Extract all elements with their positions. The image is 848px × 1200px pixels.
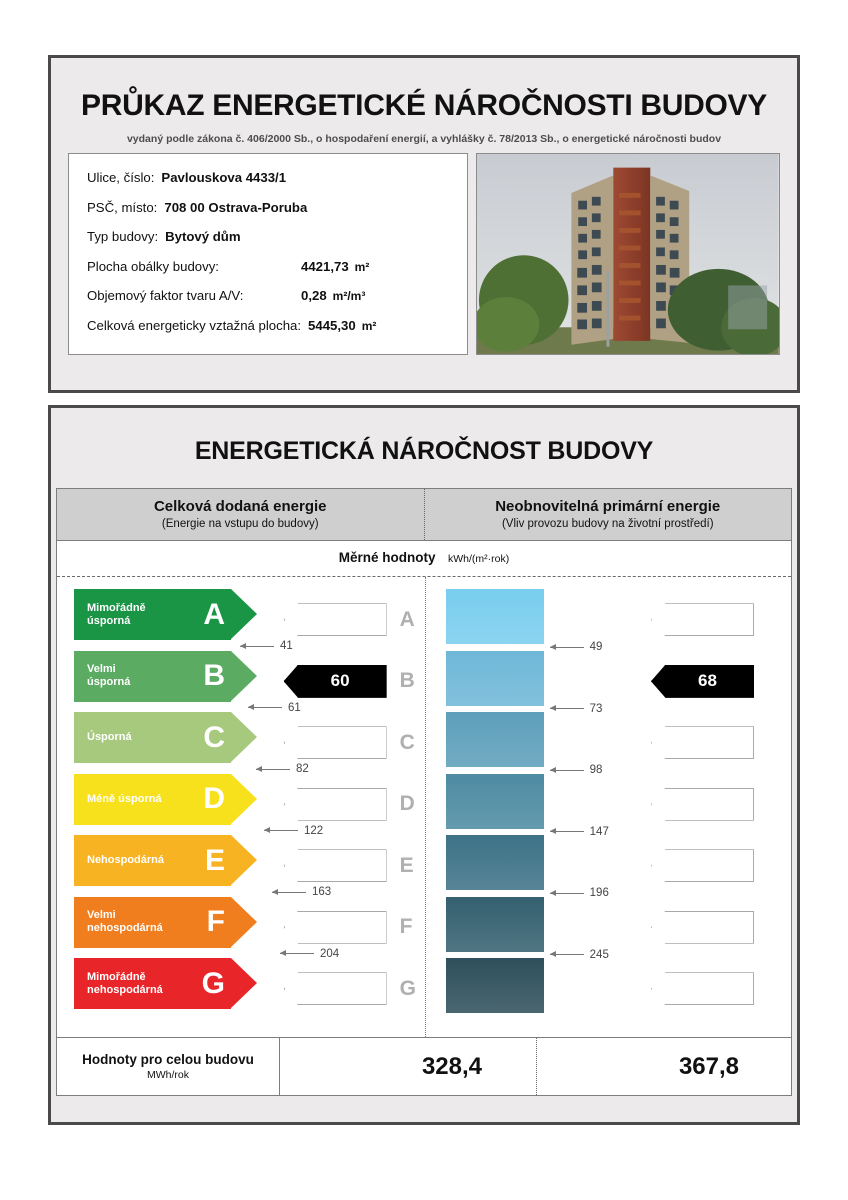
- primary-scale-row: [446, 958, 639, 1020]
- result-arrow-row: [639, 835, 791, 897]
- arrow-shape: [284, 972, 387, 1005]
- info-row-shape-factor: Objemový faktor tvaru A/V: 0,28 m²/m³: [87, 288, 467, 303]
- primary-scale-column: 497398147196245: [424, 589, 639, 1031]
- result-arrow-row: G: [272, 958, 424, 1020]
- class-band-a: MimořádněúspornáA: [74, 589, 231, 640]
- result-arrow-empty: [284, 788, 387, 821]
- class-band-letter: B: [203, 661, 231, 691]
- label-envelope-area: Plocha obálky budovy:: [87, 259, 301, 274]
- label-type: Typ budovy:: [87, 229, 158, 244]
- specific-values-unit: kWh/(m²·rok): [448, 553, 509, 565]
- result-class-letter: D: [400, 792, 420, 816]
- result-arrow-row: [639, 712, 791, 774]
- primary-scale-row: [446, 774, 639, 836]
- value-street: Pavlouskova 4433/1: [161, 170, 286, 185]
- specific-values-label: Měrné hodnoty: [339, 550, 436, 565]
- info-row-zip: PSČ, místo: 708 00 Ostrava-Poruba: [87, 200, 467, 215]
- primary-scale-row: [446, 897, 639, 959]
- unit-shape-factor: m²/m³: [333, 289, 366, 303]
- result-arrow-row: [639, 958, 791, 1020]
- primary-scale-row: [446, 651, 639, 713]
- value-reference-area: 5445,30: [308, 318, 356, 333]
- result-arrow-row: A: [272, 589, 424, 651]
- primary-scale-block: [446, 897, 544, 952]
- value-type: Bytový dům: [165, 229, 240, 244]
- value-shape-factor: 0,28: [301, 288, 327, 303]
- section-title: ENERGETICKÁ NÁROČNOST BUDOVY: [56, 413, 792, 488]
- unit-envelope-area: m²: [355, 260, 370, 274]
- arrow-shape: [284, 849, 387, 882]
- page-title: PRŮKAZ ENERGETICKÉ NÁROČNOSTI BUDOVY: [66, 89, 782, 123]
- result-arrow-empty: [651, 849, 754, 882]
- whole-building-label: Hodnoty pro celou budovu: [82, 1052, 254, 1067]
- result-arrow-empty: [284, 849, 387, 882]
- result-arrow-active: 68: [651, 665, 754, 698]
- result-arrow-empty: [284, 911, 387, 944]
- class-scale-column: MimořádněúspornáA41VelmiúspornáB61Úsporn…: [57, 589, 272, 1031]
- class-band-label: Velmiúsporná: [74, 663, 203, 689]
- primary-scale-block: [446, 835, 544, 890]
- result-class-letter: F: [400, 915, 420, 939]
- class-band-label: Nehospodárná: [74, 854, 205, 867]
- delivered-result-column: A60BCDEFG: [272, 589, 424, 1031]
- label-reference-area: Celková energeticky vztažná plocha:: [87, 318, 301, 333]
- building-info-box: Ulice, číslo: Pavlouskova 4433/1 PSČ, mí…: [68, 153, 468, 355]
- column-title-delivered: Celková dodaná energie: [61, 498, 420, 515]
- result-arrow-empty: [651, 726, 754, 759]
- info-row-type: Typ budovy: Bytový dům: [87, 229, 467, 244]
- result-value: 68: [688, 671, 717, 691]
- column-headers: Celková dodaná energie (Energie na vstup…: [57, 489, 791, 541]
- class-band-row: ÚspornáC: [74, 712, 272, 774]
- arrow-shape: [651, 603, 754, 636]
- whole-building-row: Hodnoty pro celou budovu MWh/rok 328,4 3…: [57, 1037, 791, 1095]
- result-arrow-empty: [284, 603, 387, 636]
- class-band-row: NehospodárnáE: [74, 835, 272, 897]
- whole-building-value-primary: 367,8: [537, 1038, 791, 1095]
- primary-scale-block: [446, 774, 544, 829]
- header-panel: PRŮKAZ ENERGETICKÉ NÁROČNOSTI BUDOVY vyd…: [48, 55, 800, 393]
- arrow-shape: [284, 726, 387, 759]
- class-band-row: MimořádněnehospodárnáG: [74, 958, 272, 1020]
- class-band-letter: C: [203, 723, 231, 753]
- result-arrow-empty: [651, 911, 754, 944]
- class-band-label: Mimořádněnehospodárná: [74, 971, 202, 997]
- class-band-g: MimořádněnehospodárnáG: [74, 958, 231, 1009]
- arrow-shape: [651, 972, 754, 1005]
- result-arrow-row: 60B: [272, 651, 424, 713]
- value-envelope-area: 4421,73: [301, 259, 349, 274]
- primary-scale-row: [446, 835, 639, 897]
- building-info-wrap: Ulice, číslo: Pavlouskova 4433/1 PSČ, mí…: [56, 153, 792, 365]
- column-header-delivered: Celková dodaná energie (Energie na vstup…: [57, 489, 425, 540]
- result-class-letter: C: [400, 731, 420, 755]
- class-band-letter: D: [203, 784, 231, 814]
- class-band-e: NehospodárnáE: [74, 835, 231, 886]
- class-band-b: VelmiúspornáB: [74, 651, 231, 702]
- info-row-street: Ulice, číslo: Pavlouskova 4433/1: [87, 170, 467, 185]
- energy-table: Celková dodaná energie (Energie na vstup…: [56, 488, 792, 1096]
- column-subtitle-delivered: (Energie na vstupu do budovy): [61, 518, 420, 530]
- arrow-shape: [284, 911, 387, 944]
- column-subtitle-primary: (Vliv provozu budovy na životní prostřed…: [429, 518, 788, 530]
- whole-building-value-delivered: 328,4: [280, 1038, 537, 1095]
- result-arrow-row: [639, 897, 791, 959]
- class-band-f: VelminehospodárnáF: [74, 897, 231, 948]
- primary-result-column: 68: [639, 589, 791, 1031]
- result-class-letter: E: [400, 854, 420, 878]
- energy-panel: ENERGETICKÁ NÁROČNOST BUDOVY Celková dod…: [48, 405, 800, 1125]
- class-band-label: Úsporná: [74, 731, 203, 744]
- result-arrow-row: [639, 774, 791, 836]
- result-arrow-row: C: [272, 712, 424, 774]
- class-band-label: Mimořádněúsporná: [74, 602, 203, 628]
- result-arrow-empty: [284, 972, 387, 1005]
- value-zip: 708 00 Ostrava-Poruba: [164, 200, 307, 215]
- result-arrow-empty: [284, 726, 387, 759]
- info-row-reference-area: Celková energeticky vztažná plocha: 5445…: [87, 318, 467, 333]
- result-class-letter: G: [400, 977, 420, 1001]
- class-band-row: VelmiúspornáB: [74, 651, 272, 713]
- class-band-row: Méně úspornáD: [74, 774, 272, 836]
- primary-scale-block: [446, 712, 544, 767]
- primary-scale-row: [446, 589, 639, 651]
- label-shape-factor: Objemový faktor tvaru A/V:: [87, 288, 301, 303]
- result-arrow-row: [639, 589, 791, 651]
- page-subtitle: vydaný podle zákona č. 406/2000 Sb., o h…: [66, 133, 782, 145]
- unit-reference-area: m²: [362, 319, 377, 333]
- arrow-shape: [651, 911, 754, 944]
- class-band-letter: G: [202, 969, 231, 999]
- info-row-envelope-area: Plocha obálky budovy: 4421,73 m²: [87, 259, 467, 274]
- whole-building-unit: MWh/rok: [147, 1069, 189, 1081]
- result-arrow-empty: [651, 603, 754, 636]
- result-arrow-row: E: [272, 835, 424, 897]
- result-class-letter: A: [400, 608, 420, 632]
- primary-scale-block: [446, 958, 544, 1013]
- arrow-shape: [284, 788, 387, 821]
- building-photo-image: [477, 154, 779, 355]
- class-band-letter: E: [205, 846, 231, 876]
- specific-values-row: Měrné hodnoty kWh/(m²·rok): [57, 541, 791, 577]
- class-band-d: Méně úspornáD: [74, 774, 231, 825]
- arrow-shape: [651, 788, 754, 821]
- result-class-letter: B: [400, 669, 420, 693]
- title-block: PRŮKAZ ENERGETICKÉ NÁROČNOSTI BUDOVY vyd…: [56, 63, 792, 153]
- class-band-label: Méně úsporná: [74, 793, 203, 806]
- whole-building-label-cell: Hodnoty pro celou budovu MWh/rok: [57, 1038, 280, 1095]
- arrow-shape: [284, 603, 387, 636]
- primary-scale-row: [446, 712, 639, 774]
- result-arrow-row: 68: [639, 651, 791, 713]
- result-arrow-row: D: [272, 774, 424, 836]
- certificate-page: PRŮKAZ ENERGETICKÉ NÁROČNOSTI BUDOVY vyd…: [0, 0, 848, 1125]
- class-band-letter: F: [207, 907, 231, 937]
- primary-scale-block: [446, 589, 544, 644]
- class-band-letter: A: [203, 600, 231, 630]
- class-band-row: VelminehospodárnáF: [74, 897, 272, 959]
- arrow-shape: [651, 726, 754, 759]
- label-zip: PSČ, místo:: [87, 200, 157, 215]
- class-band-c: ÚspornáC: [74, 712, 231, 763]
- label-street: Ulice, číslo:: [87, 170, 154, 185]
- column-header-primary: Neobnovitelná primární energie (Vliv pro…: [425, 489, 792, 540]
- primary-scale-block: [446, 651, 544, 706]
- building-photo: [476, 153, 780, 355]
- scale-area: MimořádněúspornáA41VelmiúspornáB61Úsporn…: [57, 577, 791, 1037]
- result-arrow-empty: [651, 788, 754, 821]
- class-band-label: Velminehospodárná: [74, 909, 207, 935]
- column-title-primary: Neobnovitelná primární energie: [429, 498, 788, 515]
- result-value: 60: [321, 671, 350, 691]
- result-arrow-active: 60: [284, 665, 387, 698]
- arrow-shape: [651, 849, 754, 882]
- result-arrow-empty: [651, 972, 754, 1005]
- result-arrow-row: F: [272, 897, 424, 959]
